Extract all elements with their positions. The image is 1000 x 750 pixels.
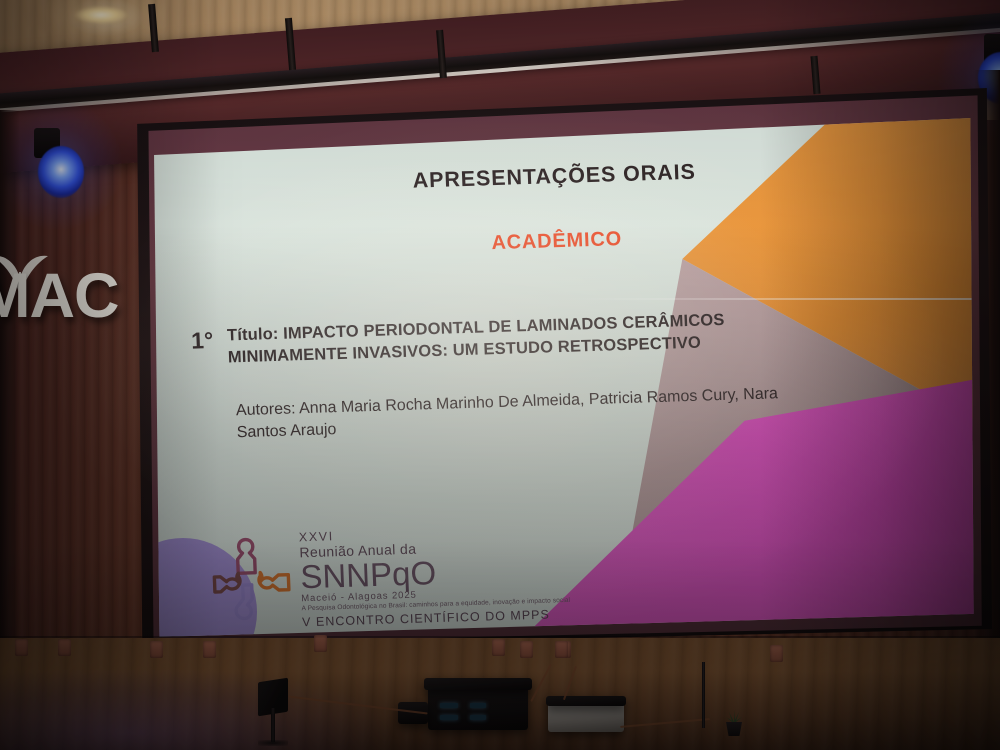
logo-text-block: XXVI Reunião Anual da SNNPqO Maceió - Al…	[299, 523, 571, 628]
wall-outlet	[203, 641, 216, 658]
microphone-stand	[702, 662, 705, 728]
av-indicator-panel	[440, 703, 458, 708]
wall-outlet	[314, 635, 327, 652]
speaker-stand-pole	[271, 708, 275, 742]
wall-outlet	[492, 639, 505, 656]
event-logo-lockup: XXVI Reunião Anual da SNNPqO Maceió - Al…	[211, 523, 571, 631]
slide-header: APRESENTAÇÕES ORAIS	[147, 151, 970, 202]
entry-authors: Autores: Anna Maria Rocha Marinho De Alm…	[236, 382, 829, 445]
wall-outlet	[58, 639, 71, 656]
wall-outlet	[555, 641, 568, 658]
wall-outlet	[520, 641, 533, 658]
slide-category: ACADÊMICO	[147, 217, 972, 266]
wall-outlet	[150, 641, 163, 658]
entry-title-block: Título: IMPACTO PERIODONTAL DE LAMINADOS…	[227, 309, 726, 369]
potted-plant	[722, 706, 746, 736]
interlocking-human-figures-icon	[211, 534, 292, 628]
entry-rank: 1°	[191, 325, 214, 355]
av-indicator-panel	[440, 715, 458, 720]
av-indicator-panel	[470, 715, 486, 720]
wall-outlet	[15, 639, 28, 656]
av-indicator-panel	[470, 703, 486, 708]
av-road-case-lid	[424, 678, 532, 690]
power-conditioner-top	[546, 696, 626, 706]
plant-pot	[726, 722, 742, 736]
wall-outlet	[770, 645, 783, 662]
floor-light-spill	[0, 670, 380, 750]
slide-entry: 1° Título: IMPACTO PERIODONTAL DE LAMINA…	[191, 307, 786, 370]
power-conditioner	[548, 702, 624, 732]
auditorium-scene: MAC APRESENTAÇÕES ORAIS ACADÊMICO 1° Tít…	[0, 0, 1000, 750]
speaker-stand-base	[258, 740, 288, 746]
slide-content: APRESENTAÇÕES ORAIS ACADÊMICO 1° Título:…	[147, 118, 977, 640]
presentation-slide: APRESENTAÇÕES ORAIS ACADÊMICO 1° Título:…	[147, 118, 977, 640]
